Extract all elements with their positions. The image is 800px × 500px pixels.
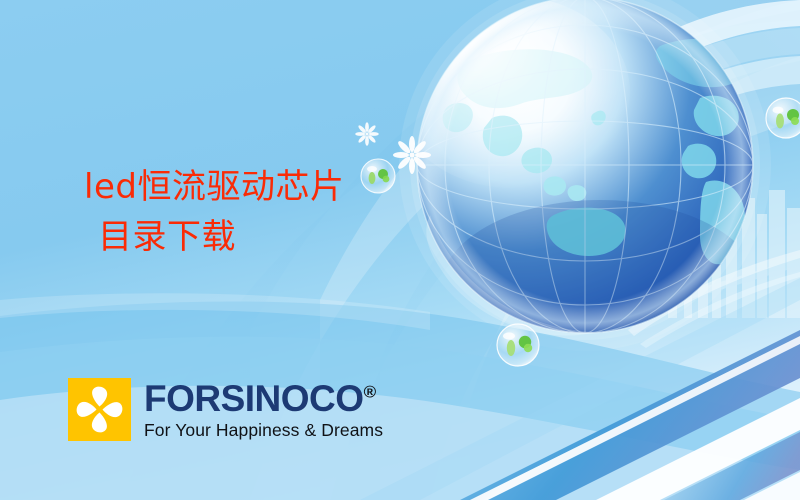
logo-wordmark-text: FORSINOCO bbox=[144, 378, 364, 419]
white-flower-large bbox=[393, 136, 431, 174]
bubble-sprout-right bbox=[766, 98, 800, 138]
logo-wordmark: FORSINOCO® bbox=[144, 380, 383, 417]
pinwheel-petals-icon bbox=[68, 378, 131, 441]
headline-line-2: 目录下载 bbox=[84, 213, 344, 263]
bubble-sprout-center bbox=[497, 324, 539, 366]
headline-text: led恒流驱动芯片 目录下载 bbox=[84, 163, 344, 262]
promo-banner: led恒流驱动芯片 目录下载 FORSINOCO® For Your Happi… bbox=[0, 0, 800, 500]
headline-line-1: led恒流驱动芯片 bbox=[84, 163, 344, 213]
brand-logo: FORSINOCO® For Your Happiness & Dreams bbox=[68, 378, 383, 441]
bubble-sprout-left bbox=[361, 159, 395, 193]
forsinoco-pinwheel-mark bbox=[68, 378, 131, 441]
registered-trademark-icon: ® bbox=[364, 383, 377, 402]
white-flower-small bbox=[355, 122, 379, 146]
logo-tagline: For Your Happiness & Dreams bbox=[144, 420, 383, 441]
logo-text-block: FORSINOCO® For Your Happiness & Dreams bbox=[144, 378, 383, 441]
